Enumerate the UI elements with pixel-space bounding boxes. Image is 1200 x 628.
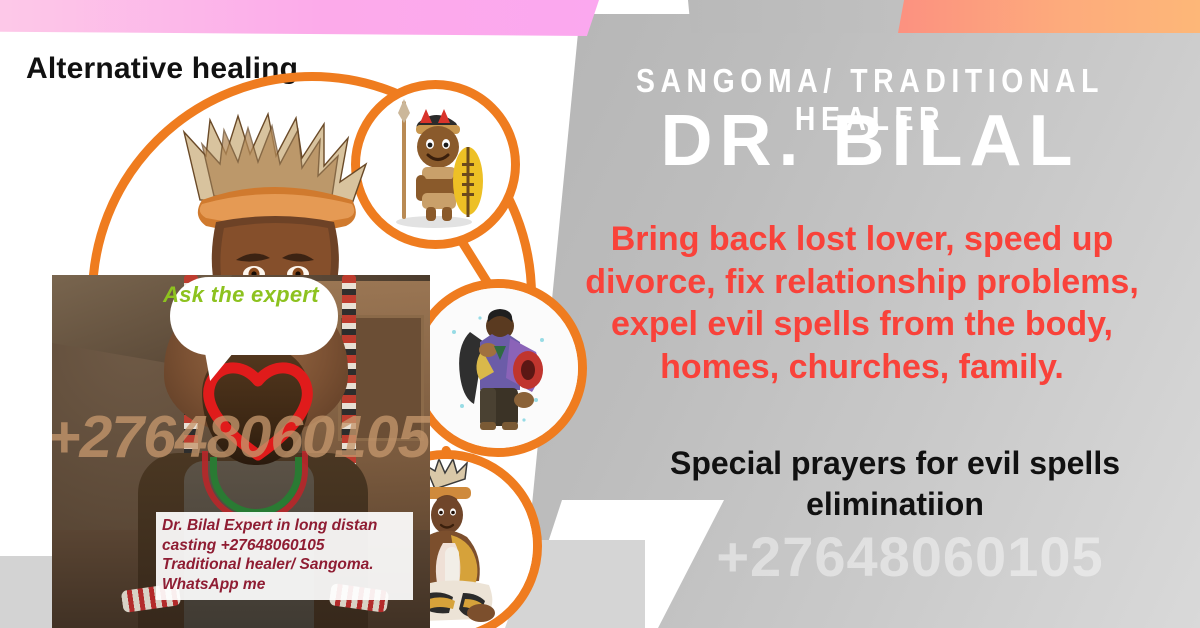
photo-watermark-phone: +27648060105 [52, 403, 430, 471]
services-text: Bring back lost lover, speed up divorce,… [548, 218, 1176, 388]
poster-canvas: Alternative healing [0, 0, 1200, 628]
photo-caption: Dr. Bilal Expert in long distan casting … [156, 512, 413, 600]
top-orange-bar [898, 0, 1200, 33]
speech-bubble-text: Ask the expert [52, 283, 430, 308]
healer-name: DR. BILAL [566, 104, 1174, 180]
left-illustration-stage: Ask the expert +27648060105 Dr. Bilal Ex… [0, 22, 560, 628]
healer-photo-card: Ask the expert +27648060105 Dr. Bilal Ex… [52, 275, 430, 628]
ghost-phone-number: +27648060105 [640, 524, 1180, 589]
special-prayers-text: Special prayers for evil spells eliminat… [610, 443, 1180, 525]
